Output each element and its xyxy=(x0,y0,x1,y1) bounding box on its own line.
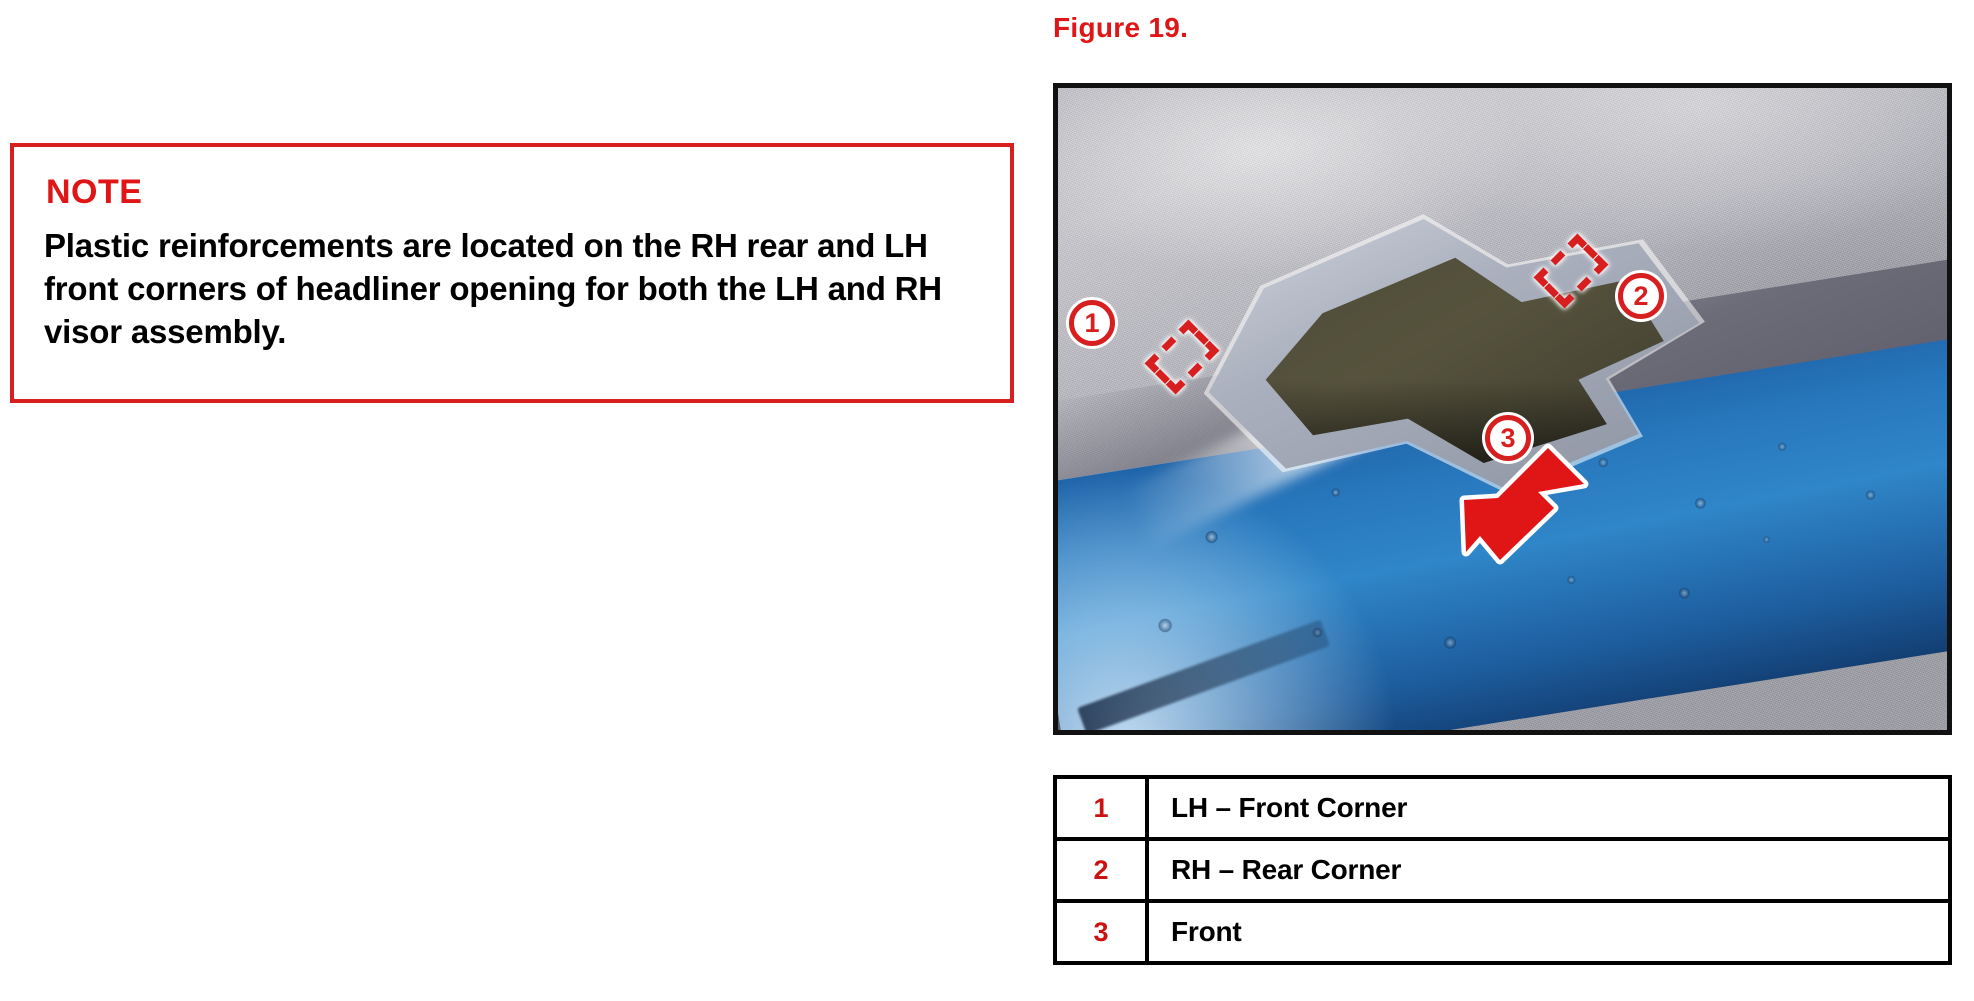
note-box: NOTE Plastic reinforcements are located … xyxy=(10,143,1014,403)
callout-3-badge: 3 xyxy=(1485,415,1531,461)
legend-number-1: 1 xyxy=(1055,777,1147,839)
legend-label-2: RH – Rear Corner xyxy=(1147,839,1950,901)
callout-3-arrow-icon xyxy=(1388,440,1588,580)
note-body-text: Plastic reinforcements are located on th… xyxy=(44,225,992,354)
legend-number-2: 2 xyxy=(1055,839,1147,901)
callout-1-badge: 1 xyxy=(1069,300,1115,346)
photo-content: 1 2 3 xyxy=(1058,88,1947,730)
legend-label-3: Front xyxy=(1147,901,1950,963)
figure-photo: 1 2 3 xyxy=(1053,83,1952,735)
figure-caption: Figure 19. xyxy=(1053,12,1188,44)
table-row: 3 Front xyxy=(1055,901,1950,963)
table-row: 1 LH – Front Corner xyxy=(1055,777,1950,839)
legend-number-3: 3 xyxy=(1055,901,1147,963)
legend-label-1: LH – Front Corner xyxy=(1147,777,1950,839)
figure-legend-table: 1 LH – Front Corner 2 RH – Rear Corner 3… xyxy=(1053,775,1952,965)
table-row: 2 RH – Rear Corner xyxy=(1055,839,1950,901)
callout-2-badge: 2 xyxy=(1618,273,1664,319)
note-title: NOTE xyxy=(46,175,142,209)
